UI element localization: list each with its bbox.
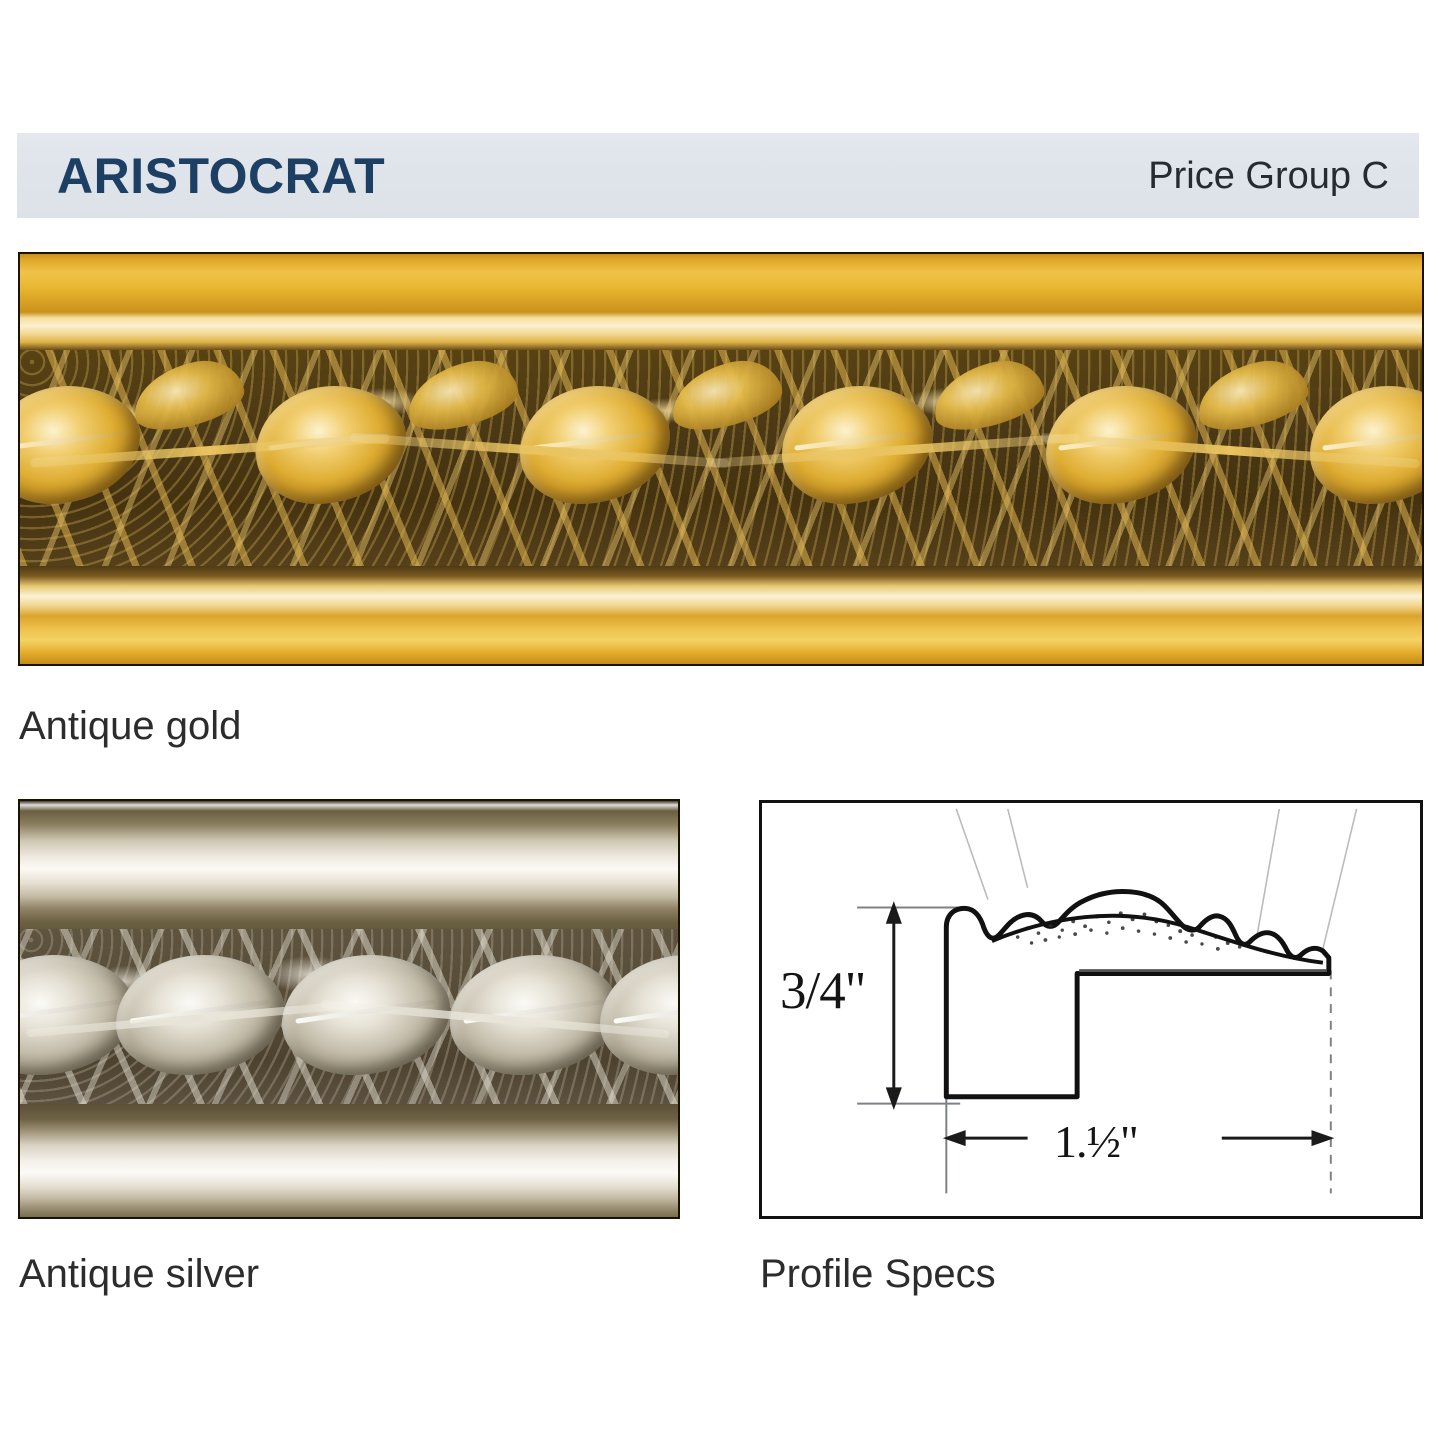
leaf-ornament-small	[127, 353, 249, 437]
leaf-ornament	[18, 386, 140, 504]
height-dimension-arrow	[888, 906, 900, 1106]
header-bar: ARISTOCRAT Price Group C	[17, 133, 1419, 218]
price-group-badge: Price Group C	[1148, 157, 1389, 195]
leaf-ornament-small	[665, 353, 787, 437]
page-title: ARISTOCRAT	[57, 151, 385, 201]
leaf-ornament-small	[927, 353, 1049, 437]
leaf-ornament	[1310, 386, 1424, 504]
silver-carved-band	[20, 929, 678, 1104]
width-dimension-arrow	[947, 1132, 1330, 1144]
caption-antique-gold: Antique gold	[19, 706, 241, 746]
profile-specs-diagram: 3/4" 1.½"	[759, 800, 1423, 1219]
width-dimension-label: 1.½"	[1054, 1115, 1138, 1168]
gold-moulding-texture	[20, 254, 1422, 664]
moulding-profile-outline	[946, 892, 1329, 1097]
caption-profile-specs: Profile Specs	[760, 1254, 996, 1294]
caption-antique-silver: Antique silver	[19, 1254, 259, 1294]
silver-moulding-texture	[20, 801, 678, 1217]
height-dimension-label: 3/4"	[780, 961, 865, 1021]
sample-image-antique-silver	[18, 799, 680, 1219]
leaf-ornament	[520, 386, 670, 504]
gold-carved-band	[20, 350, 1422, 566]
leaf-ornament-small	[1191, 353, 1313, 437]
leaf-ornament-small	[401, 353, 523, 437]
leaf-ornament	[600, 955, 680, 1075]
sample-image-antique-gold	[18, 252, 1424, 666]
